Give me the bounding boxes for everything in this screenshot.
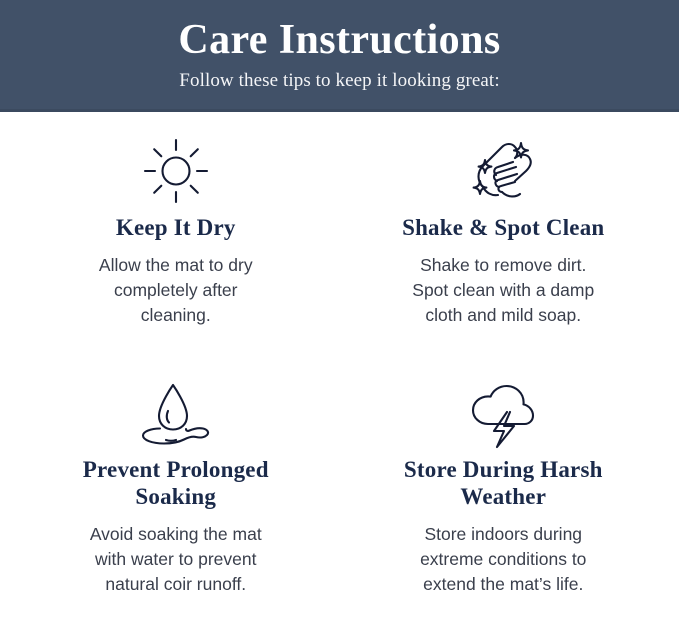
tip-title: Store During Harsh Weather — [378, 456, 628, 510]
page-header: Care Instructions Follow these tips to k… — [0, 0, 679, 112]
tip-body: Avoid soaking the mat with water to prev… — [90, 522, 262, 597]
tip-card-shake-spot-clean: Shake & Spot Clean Shake to remove dirt.… — [340, 134, 668, 378]
sun-icon — [140, 134, 212, 208]
tip-body: Store indoors during extreme conditions … — [420, 522, 586, 597]
care-instructions-page: Care Instructions Follow these tips to k… — [0, 0, 679, 628]
storm-cloud-lightning-icon — [464, 378, 542, 450]
tip-card-store-during-harsh-weather: Store During Harsh Weather Store indoors… — [340, 378, 668, 622]
washing-hands-sparkle-icon — [463, 134, 543, 208]
tips-grid: Keep It Dry Allow the mat to dry complet… — [0, 112, 679, 628]
tip-title: Keep It Dry — [116, 214, 236, 241]
tip-title: Prevent Prolonged Soaking — [51, 456, 301, 510]
water-droplet-puddle-icon — [133, 378, 219, 450]
tip-card-keep-it-dry: Keep It Dry Allow the mat to dry complet… — [12, 134, 340, 378]
page-subtitle: Follow these tips to keep it looking gre… — [179, 70, 499, 93]
tip-body: Shake to remove dirt. Spot clean with a … — [412, 253, 594, 328]
tip-card-prevent-prolonged-soaking: Prevent Prolonged Soaking Avoid soaking … — [12, 378, 340, 622]
page-title: Care Instructions — [178, 18, 500, 63]
tip-body: Allow the mat to dry completely after cl… — [99, 253, 253, 328]
tip-title: Shake & Spot Clean — [402, 214, 604, 241]
